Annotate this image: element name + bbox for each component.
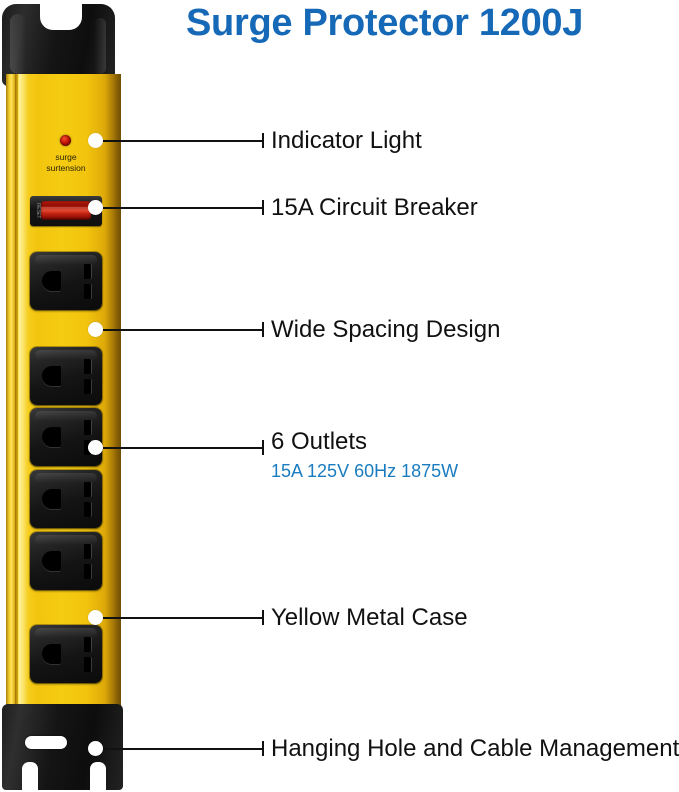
cap-notch: [40, 4, 82, 30]
callout-label-yellow-metal-case: Yellow Metal Case: [271, 604, 468, 632]
outlet-blade-slot-bottom: [84, 657, 91, 672]
callout-leader-tick: [262, 133, 264, 148]
outlet-ground-hole: [42, 551, 61, 571]
breaker-side-text: RESET: [32, 203, 40, 219]
infographic-canvas: Surge Protector 1200J surge surtension R…: [0, 0, 679, 792]
callout-leader-line: [100, 447, 263, 449]
cap-foot-notch-left: [22, 762, 38, 792]
callout-dot-indicator-light: [88, 133, 103, 148]
outlet-blade-slot-top: [84, 637, 91, 652]
outlet-blade-slot-top: [84, 482, 91, 497]
callout-label-six-outlets: 6 Outlets: [271, 428, 367, 456]
callout-leader-tick: [262, 322, 264, 337]
outlet-blade-slot-bottom: [84, 379, 91, 394]
callout-label-circuit-breaker: 15A Circuit Breaker: [271, 194, 478, 222]
indicator-label-line2: surtension: [30, 163, 102, 174]
callout-leader-tick: [262, 741, 264, 756]
outlet-socket[interactable]: [30, 347, 102, 405]
breaker-rocker-switch[interactable]: [41, 201, 91, 220]
callout-leader-line: [100, 617, 263, 619]
page-title: Surge Protector 1200J: [186, 2, 583, 45]
cap-highlight-right: [94, 18, 106, 74]
callout-dot-wide-spacing: [88, 322, 103, 337]
callout-dot-hanging-hole: [88, 741, 103, 756]
indicator-label: surge surtension: [30, 152, 102, 173]
callout-dot-circuit-breaker: [88, 200, 103, 215]
outlet-ground-hole: [42, 271, 61, 291]
indicator-light-icon: [60, 135, 71, 146]
callout-leader-line: [100, 329, 263, 331]
outlet-socket[interactable]: [30, 252, 102, 310]
callout-label-hanging-hole: Hanging Hole and Cable Management: [271, 735, 679, 763]
callout-leader-tick: [262, 200, 264, 215]
outlet-ground-hole: [42, 489, 61, 509]
outlet-ground-hole: [42, 366, 61, 386]
case-highlight: [19, 74, 29, 712]
outlet-socket[interactable]: [30, 625, 102, 683]
hanging-hole-slot: [25, 736, 67, 749]
outlet-blade-slot-top: [84, 264, 91, 279]
callout-leader-tick: [262, 610, 264, 625]
callout-dot-yellow-metal-case: [88, 610, 103, 625]
callout-leader-line: [100, 207, 263, 209]
callout-leader-line: [100, 748, 263, 750]
outlet-blade-slot-top: [84, 420, 91, 435]
outlet-socket[interactable]: [30, 408, 102, 466]
outlet-blade-slot-bottom: [84, 284, 91, 299]
outlet-blade-slot-bottom: [84, 564, 91, 579]
callout-dot-six-outlets: [88, 440, 103, 455]
outlet-blade-slot-bottom: [84, 502, 91, 517]
outlet-ground-hole: [42, 427, 61, 447]
indicator-label-line1: surge: [30, 152, 102, 163]
outlet-blade-slot-top: [84, 359, 91, 374]
callout-label-indicator-light: Indicator Light: [271, 127, 422, 155]
cap-foot-notch-right: [90, 762, 106, 792]
callout-sublabel-six-outlets: 15A 125V 60Hz 1875W: [271, 461, 458, 482]
outlet-ground-hole: [42, 644, 61, 664]
case-left-groove: [15, 74, 18, 712]
outlet-blade-slot-top: [84, 544, 91, 559]
product-image: surge surtension RESET: [0, 0, 140, 792]
callout-label-wide-spacing: Wide Spacing Design: [271, 316, 500, 344]
callout-leader-line: [100, 140, 263, 142]
case-left-rail: [6, 74, 15, 712]
callout-leader-tick: [262, 440, 264, 455]
cap-highlight-left: [10, 14, 26, 74]
outlet-socket[interactable]: [30, 532, 102, 590]
outlet-socket[interactable]: [30, 470, 102, 528]
